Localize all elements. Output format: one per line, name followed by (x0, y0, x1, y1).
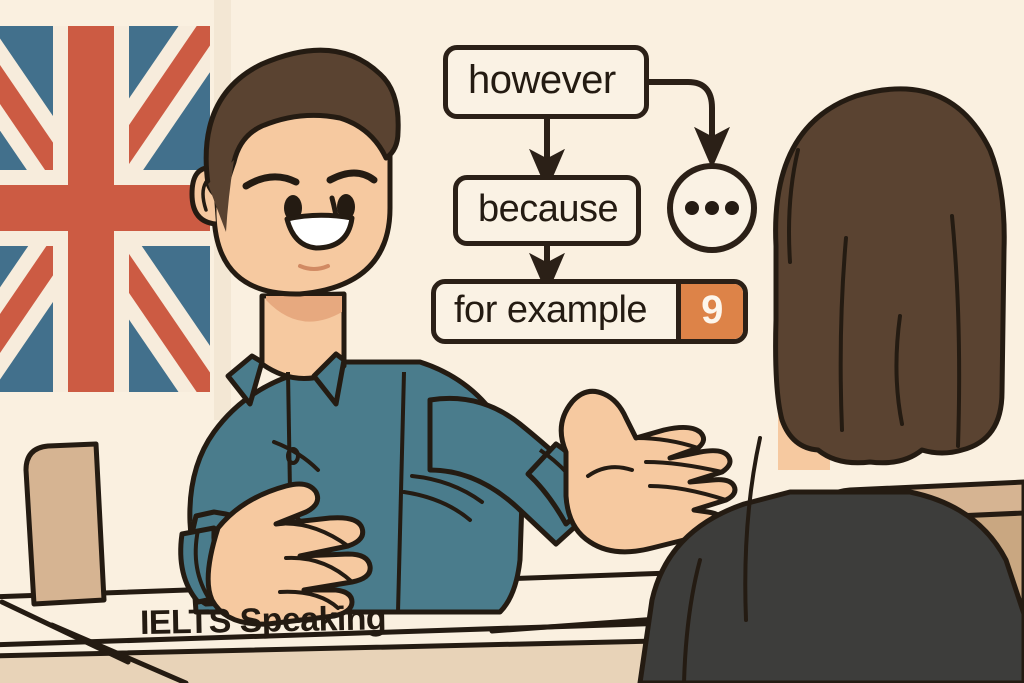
flowchart-node-however-label: however (448, 58, 632, 106)
page-title: IELTS Speaking (140, 599, 387, 643)
illustration-scene: however because for example 9 IELTS Spea… (0, 0, 1024, 683)
flowchart-node-for-example[interactable]: for example 9 (431, 279, 748, 344)
flowchart-node-because-label: because (458, 188, 634, 234)
flowchart-node-because[interactable]: because (453, 175, 641, 246)
connector-however-more (649, 82, 712, 146)
ellipsis-dot (705, 201, 719, 215)
flowchart-node-for-example-badge: 9 (676, 284, 743, 339)
ellipsis-node[interactable] (670, 166, 754, 250)
flowchart-node-however[interactable]: however (443, 45, 649, 119)
ellipsis-dot (685, 201, 699, 215)
ellipsis-dot (725, 201, 739, 215)
flowchart-node-for-example-label: for example (436, 289, 676, 335)
